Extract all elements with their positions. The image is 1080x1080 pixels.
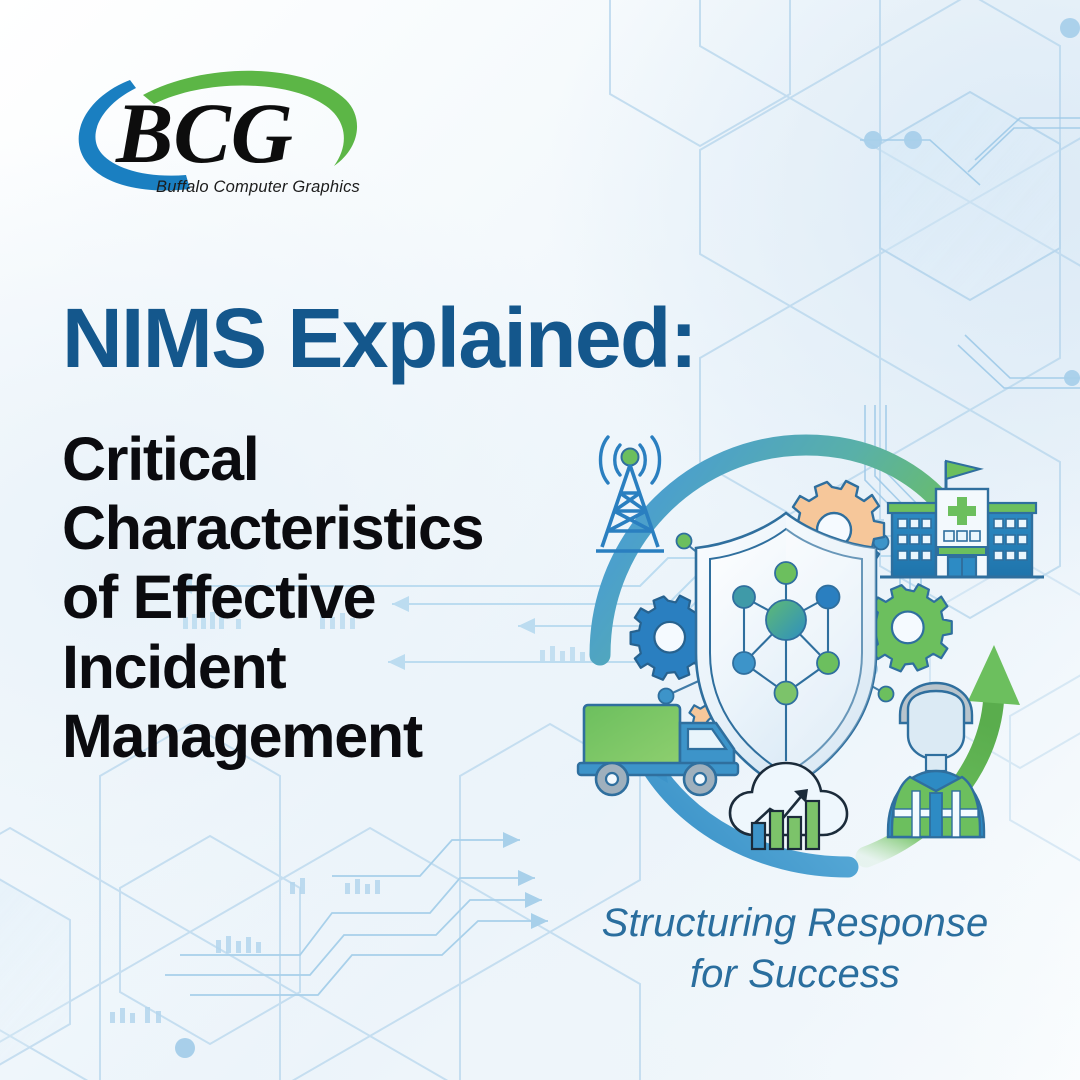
gear-green-icon (867, 584, 951, 671)
hospital-flag (946, 461, 980, 479)
bar-3 (788, 817, 801, 849)
bcg-logo-svg: BCG Buffalo Computer Graphics (58, 62, 388, 207)
tagline-line-2: for Success (545, 949, 1045, 1000)
page-subtitle: Critical Characteristics of Effective In… (62, 425, 582, 771)
bar-4 (806, 801, 819, 849)
arrow-right-head (968, 645, 1020, 705)
tagline-line-1: Structuring Response (545, 898, 1045, 949)
subtitle-line-1: Critical (62, 425, 582, 494)
bar-2 (770, 811, 783, 849)
illustration-svg (548, 405, 1048, 905)
network-endpoint-dot-sw (659, 689, 674, 704)
bar-1 (752, 823, 765, 849)
radio-tower-beacon (622, 449, 639, 466)
truck-cargo-box (584, 705, 680, 767)
poster-canvas: BCG Buffalo Computer Graphics NIMS Expla… (0, 0, 1080, 1080)
subtitle-line-4: Incident (62, 633, 582, 702)
subtitle-line-3: of Effective (62, 563, 582, 632)
subtitle-line-5: Management (62, 702, 582, 771)
bcg-logo[interactable]: BCG Buffalo Computer Graphics (58, 62, 388, 207)
incident-management-illustration (548, 405, 1048, 905)
worker-face (908, 691, 964, 759)
logo-tagline: Buffalo Computer Graphics (156, 178, 360, 196)
logo-wordmark: BCG (115, 85, 293, 181)
subtitle-line-2: Characteristics (62, 494, 582, 563)
tagline: Structuring Response for Success (545, 898, 1045, 1000)
page-title: NIMS Explained: (62, 296, 696, 380)
